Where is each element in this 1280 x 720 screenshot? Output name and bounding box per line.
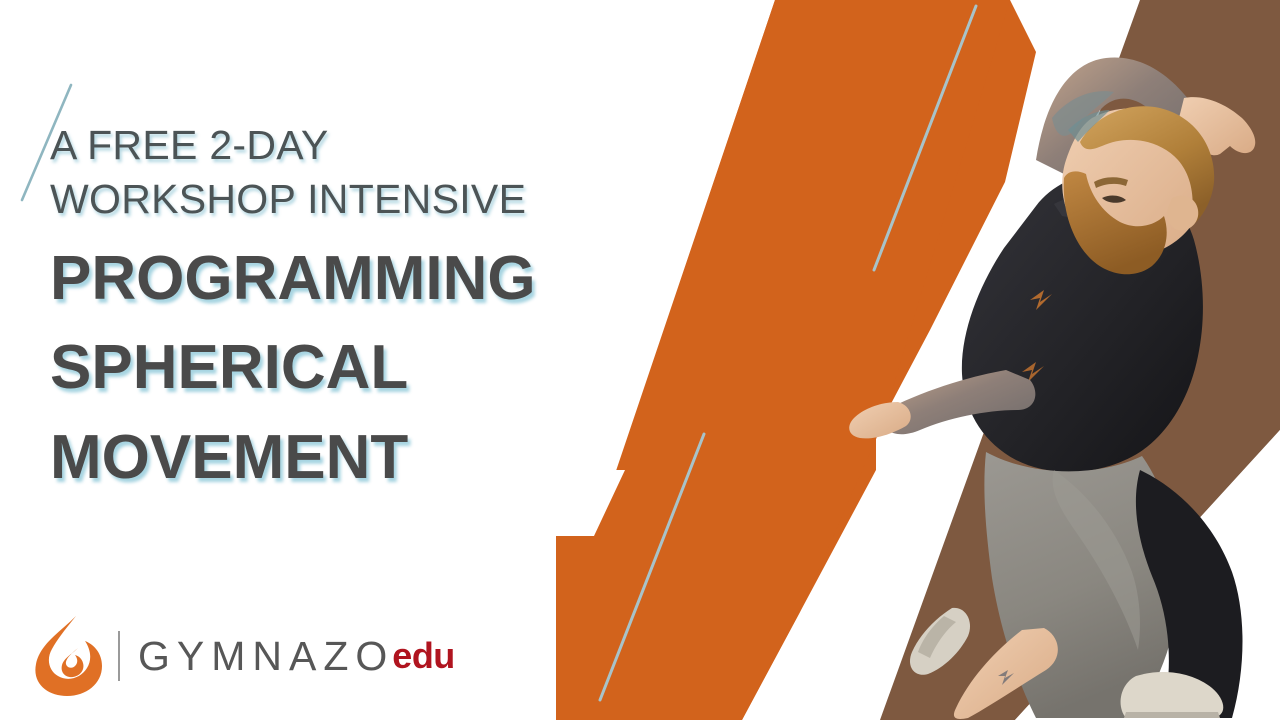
headline-block: A FREE 2-DAY WORKSHOP INTENSIVE PROGRAMM…	[50, 118, 690, 502]
logo-edu-suffix: edu	[392, 638, 455, 674]
kicker-line-2: WORKSHOP INTENSIVE	[50, 172, 690, 226]
title-block: PROGRAMMING SPHERICAL MOVEMENT	[50, 234, 690, 502]
athlete-photo	[840, 0, 1280, 720]
promo-slide: A FREE 2-DAY WORKSHOP INTENSIVE PROGRAMM…	[0, 0, 1280, 720]
title-line-2: SPHERICAL	[50, 323, 690, 412]
athlete-illustration	[840, 0, 1280, 720]
title-line-3: MOVEMENT	[50, 413, 690, 502]
logo-divider	[118, 631, 120, 681]
flame-inner-shape	[62, 648, 84, 677]
logo-lockup: GYMNAZO edu	[30, 612, 455, 700]
title-line-1: PROGRAMMING	[50, 234, 690, 323]
flame-logo-icon	[30, 614, 108, 698]
logo-wordmark: GYMNAZO	[138, 636, 394, 677]
ankle-wrap	[910, 608, 970, 675]
shoe-sole	[1124, 712, 1220, 718]
kicker-line-1: A FREE 2-DAY	[50, 118, 690, 172]
